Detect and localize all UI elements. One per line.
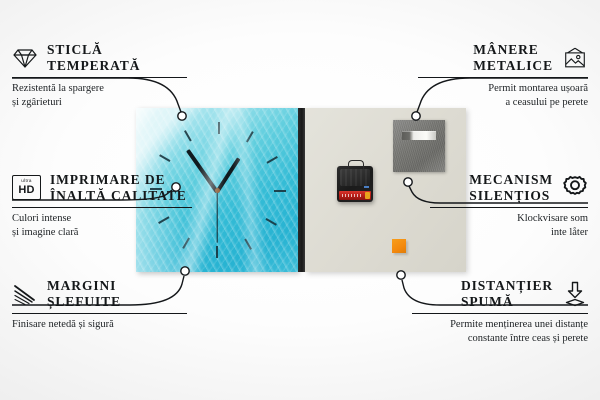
callout-polished-edges: MARGINI ȘLEFUITE Finisare netedă și sigu…: [12, 278, 187, 332]
hour-tick: [216, 246, 218, 258]
callout-divider: [418, 77, 588, 78]
callout-title: STICLĂ TEMPERATĂ: [47, 42, 140, 73]
hands-center-cap: [215, 188, 220, 193]
second-hand: [216, 191, 217, 243]
battery-terminal: [365, 192, 370, 199]
callout-title: MÂNERE METALICE: [473, 42, 553, 73]
callout-divider: [430, 207, 588, 208]
clock-side-edge: [298, 108, 305, 272]
quartz-mechanism: [337, 166, 373, 202]
foam-spacer: [392, 239, 406, 253]
diamond-icon: [12, 45, 38, 71]
callout-description: Finisare netedă și sigură: [12, 318, 187, 331]
hour-tick: [266, 156, 277, 164]
hour-tick: [218, 122, 220, 134]
down-arrow-stack-icon: [562, 281, 588, 307]
callout-silent-mechanism: MECANISM SILENȚIOS Klockvisare som inte …: [430, 172, 588, 239]
callout-metal-handles: MÂNERE METALICE Permit montarea ușoară a…: [418, 42, 588, 109]
callout-description: Permit montarea ușoară a ceasului pe per…: [418, 82, 588, 109]
callout-tempered-glass: STICLĂ TEMPERATĂ Rezistentă la spargere …: [12, 42, 187, 109]
hour-tick: [244, 238, 252, 249]
callout-description: Culori intense și imagine clară: [12, 212, 192, 239]
hour-tick: [274, 190, 286, 192]
callout-divider: [12, 77, 187, 78]
callout-title: DISTANȚIER SPUMĂ: [461, 278, 553, 309]
callout-divider: [412, 313, 588, 314]
hanger-slot: [402, 131, 436, 140]
picture-hanger-icon: [562, 45, 588, 71]
metal-hanger-plate: [393, 120, 445, 172]
callout-foam-spacer: DISTANȚIER SPUMĂ Permite menținerea unei…: [412, 278, 588, 345]
callout-description: Rezistentă la spargere și zgârieturi: [12, 82, 187, 109]
polished-edges-icon: [12, 281, 38, 307]
callout-title: MARGINI ȘLEFUITE: [47, 278, 121, 309]
mechanism-body: [340, 169, 370, 186]
hour-tick: [265, 218, 276, 226]
callout-header: MARGINI ȘLEFUITE: [12, 278, 187, 309]
connector-dot-spacer: [397, 271, 405, 279]
battery: [339, 191, 371, 200]
callout-divider: [12, 207, 192, 208]
callout-header: STICLĂ TEMPERATĂ: [12, 42, 187, 73]
product-infographic: STICLĂ TEMPERATĂ Rezistentă la spargere …: [0, 0, 600, 400]
mechanism-indicator: [364, 186, 369, 188]
hour-tick: [159, 154, 170, 162]
hour-tick: [184, 130, 192, 141]
callout-description: Permite menținerea unei distanțe constan…: [412, 318, 588, 345]
callout-description: Klockvisare som inte låter: [430, 212, 588, 239]
callout-high-quality-print: ultra HD IMPRIMARE DE ÎNALTĂ CALITATE Cu…: [12, 172, 192, 239]
gear-icon: [562, 175, 588, 201]
ultra-hd-icon: ultra HD: [12, 175, 41, 200]
callout-header: ultra HD IMPRIMARE DE ÎNALTĂ CALITATE: [12, 172, 192, 203]
callout-header: MÂNERE METALICE: [418, 42, 588, 73]
callout-divider: [12, 313, 187, 314]
ultra-hd-icon-main: HD: [18, 185, 34, 196]
hour-tick: [246, 131, 254, 142]
callout-title: MECANISM SILENȚIOS: [469, 172, 553, 203]
callout-header: DISTANȚIER SPUMĂ: [412, 278, 588, 309]
callout-header: MECANISM SILENȚIOS: [430, 172, 588, 203]
callout-title: IMPRIMARE DE ÎNALTĂ CALITATE: [50, 172, 187, 203]
